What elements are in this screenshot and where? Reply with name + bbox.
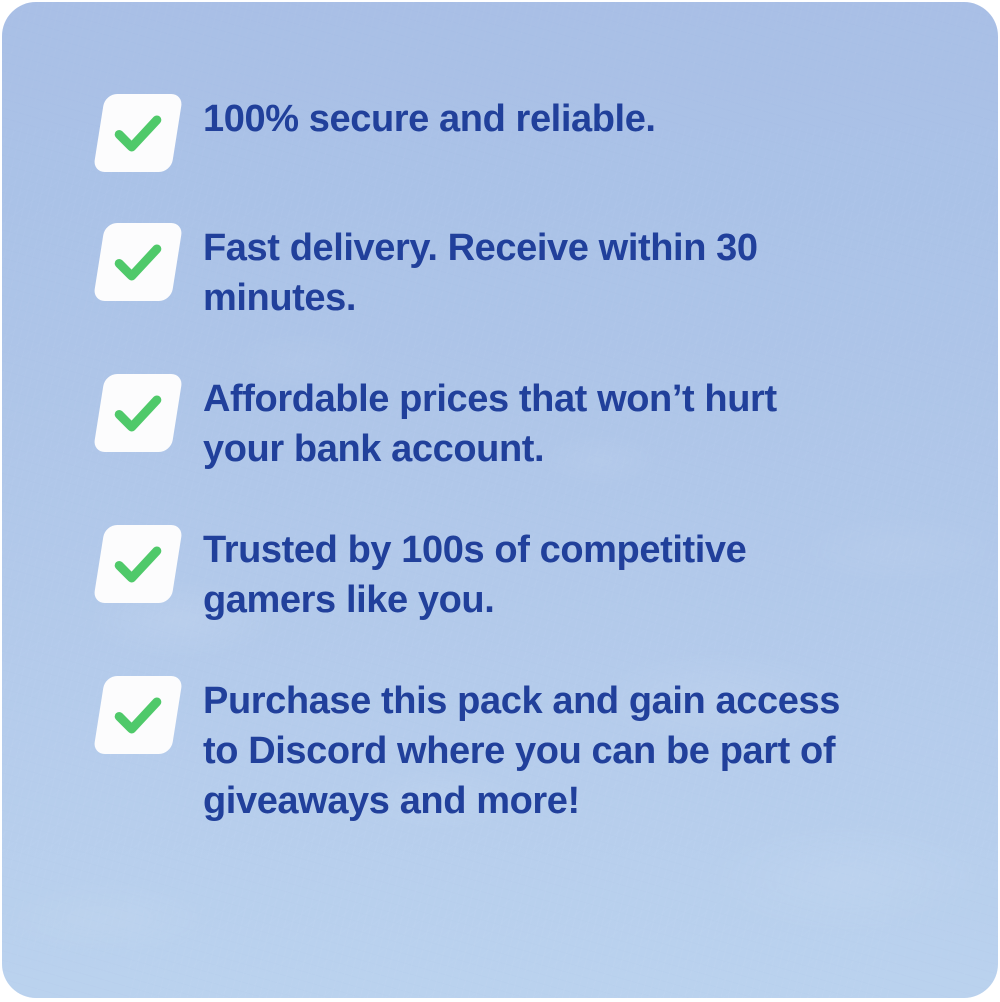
benefit-text: Affordable prices that won’t hurt your b…: [203, 368, 851, 474]
benefit-text: 100% secure and reliable.: [203, 88, 656, 144]
benefit-text: Trusted by 100s of competitive gamers li…: [203, 519, 851, 625]
check-icon: [93, 94, 183, 172]
list-item: 100% secure and reliable.: [2, 88, 998, 172]
check-icon: [93, 525, 183, 603]
list-item: Fast delivery. Receive within 30 minutes…: [2, 217, 998, 323]
benefit-text: Fast delivery. Receive within 30 minutes…: [203, 217, 851, 323]
check-icon: [93, 676, 183, 754]
check-icon: [93, 223, 183, 301]
benefits-checklist-card: 100% secure and reliable. Fast delivery.…: [2, 2, 998, 998]
benefit-text: Purchase this pack and gain access to Di…: [203, 670, 851, 826]
list-item: Purchase this pack and gain access to Di…: [2, 670, 998, 826]
list-item: Affordable prices that won’t hurt your b…: [2, 368, 998, 474]
list-item: Trusted by 100s of competitive gamers li…: [2, 519, 998, 625]
benefits-list: 100% secure and reliable. Fast delivery.…: [2, 2, 998, 826]
check-icon: [93, 374, 183, 452]
